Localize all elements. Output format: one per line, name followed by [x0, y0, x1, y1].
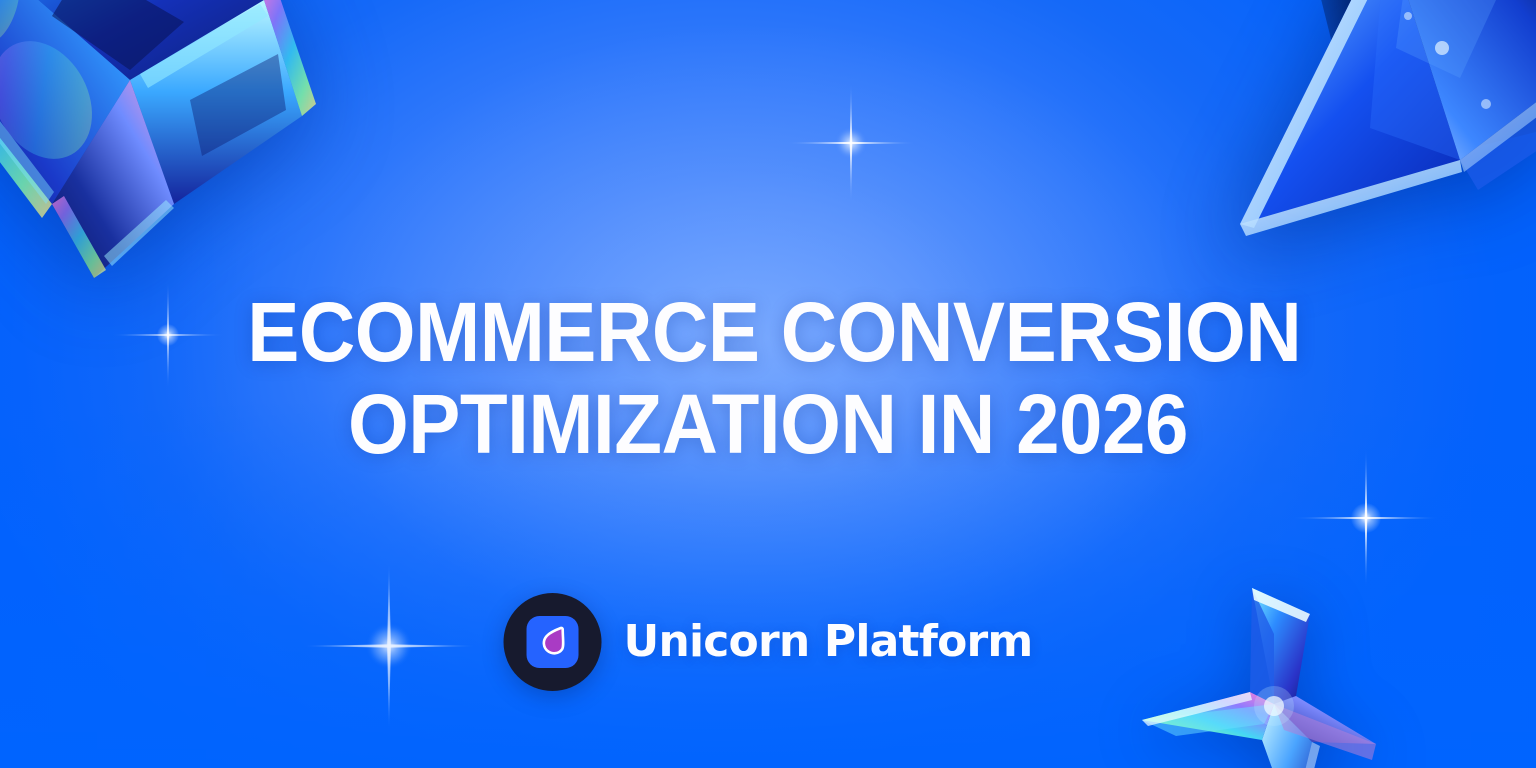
brand-logo-lockup[interactable]: Unicorn Platform	[504, 593, 1033, 691]
headline-line-2: OPTIMIZATION IN 2026	[247, 378, 1289, 470]
headline-line-1: ECOMMERCE CONVERSION	[247, 286, 1289, 378]
droplet-leaf-icon	[536, 625, 570, 659]
banner-content: ECOMMERCE CONVERSION OPTIMIZATION IN 202…	[0, 0, 1536, 768]
blog-hero-banner: ECOMMERCE CONVERSION OPTIMIZATION IN 202…	[0, 0, 1536, 768]
unicorn-platform-logo-icon	[504, 593, 602, 691]
logo-rounded-square	[527, 616, 579, 668]
page-title: ECOMMERCE CONVERSION OPTIMIZATION IN 202…	[247, 286, 1289, 470]
brand-name-label: Unicorn Platform	[624, 620, 1033, 664]
